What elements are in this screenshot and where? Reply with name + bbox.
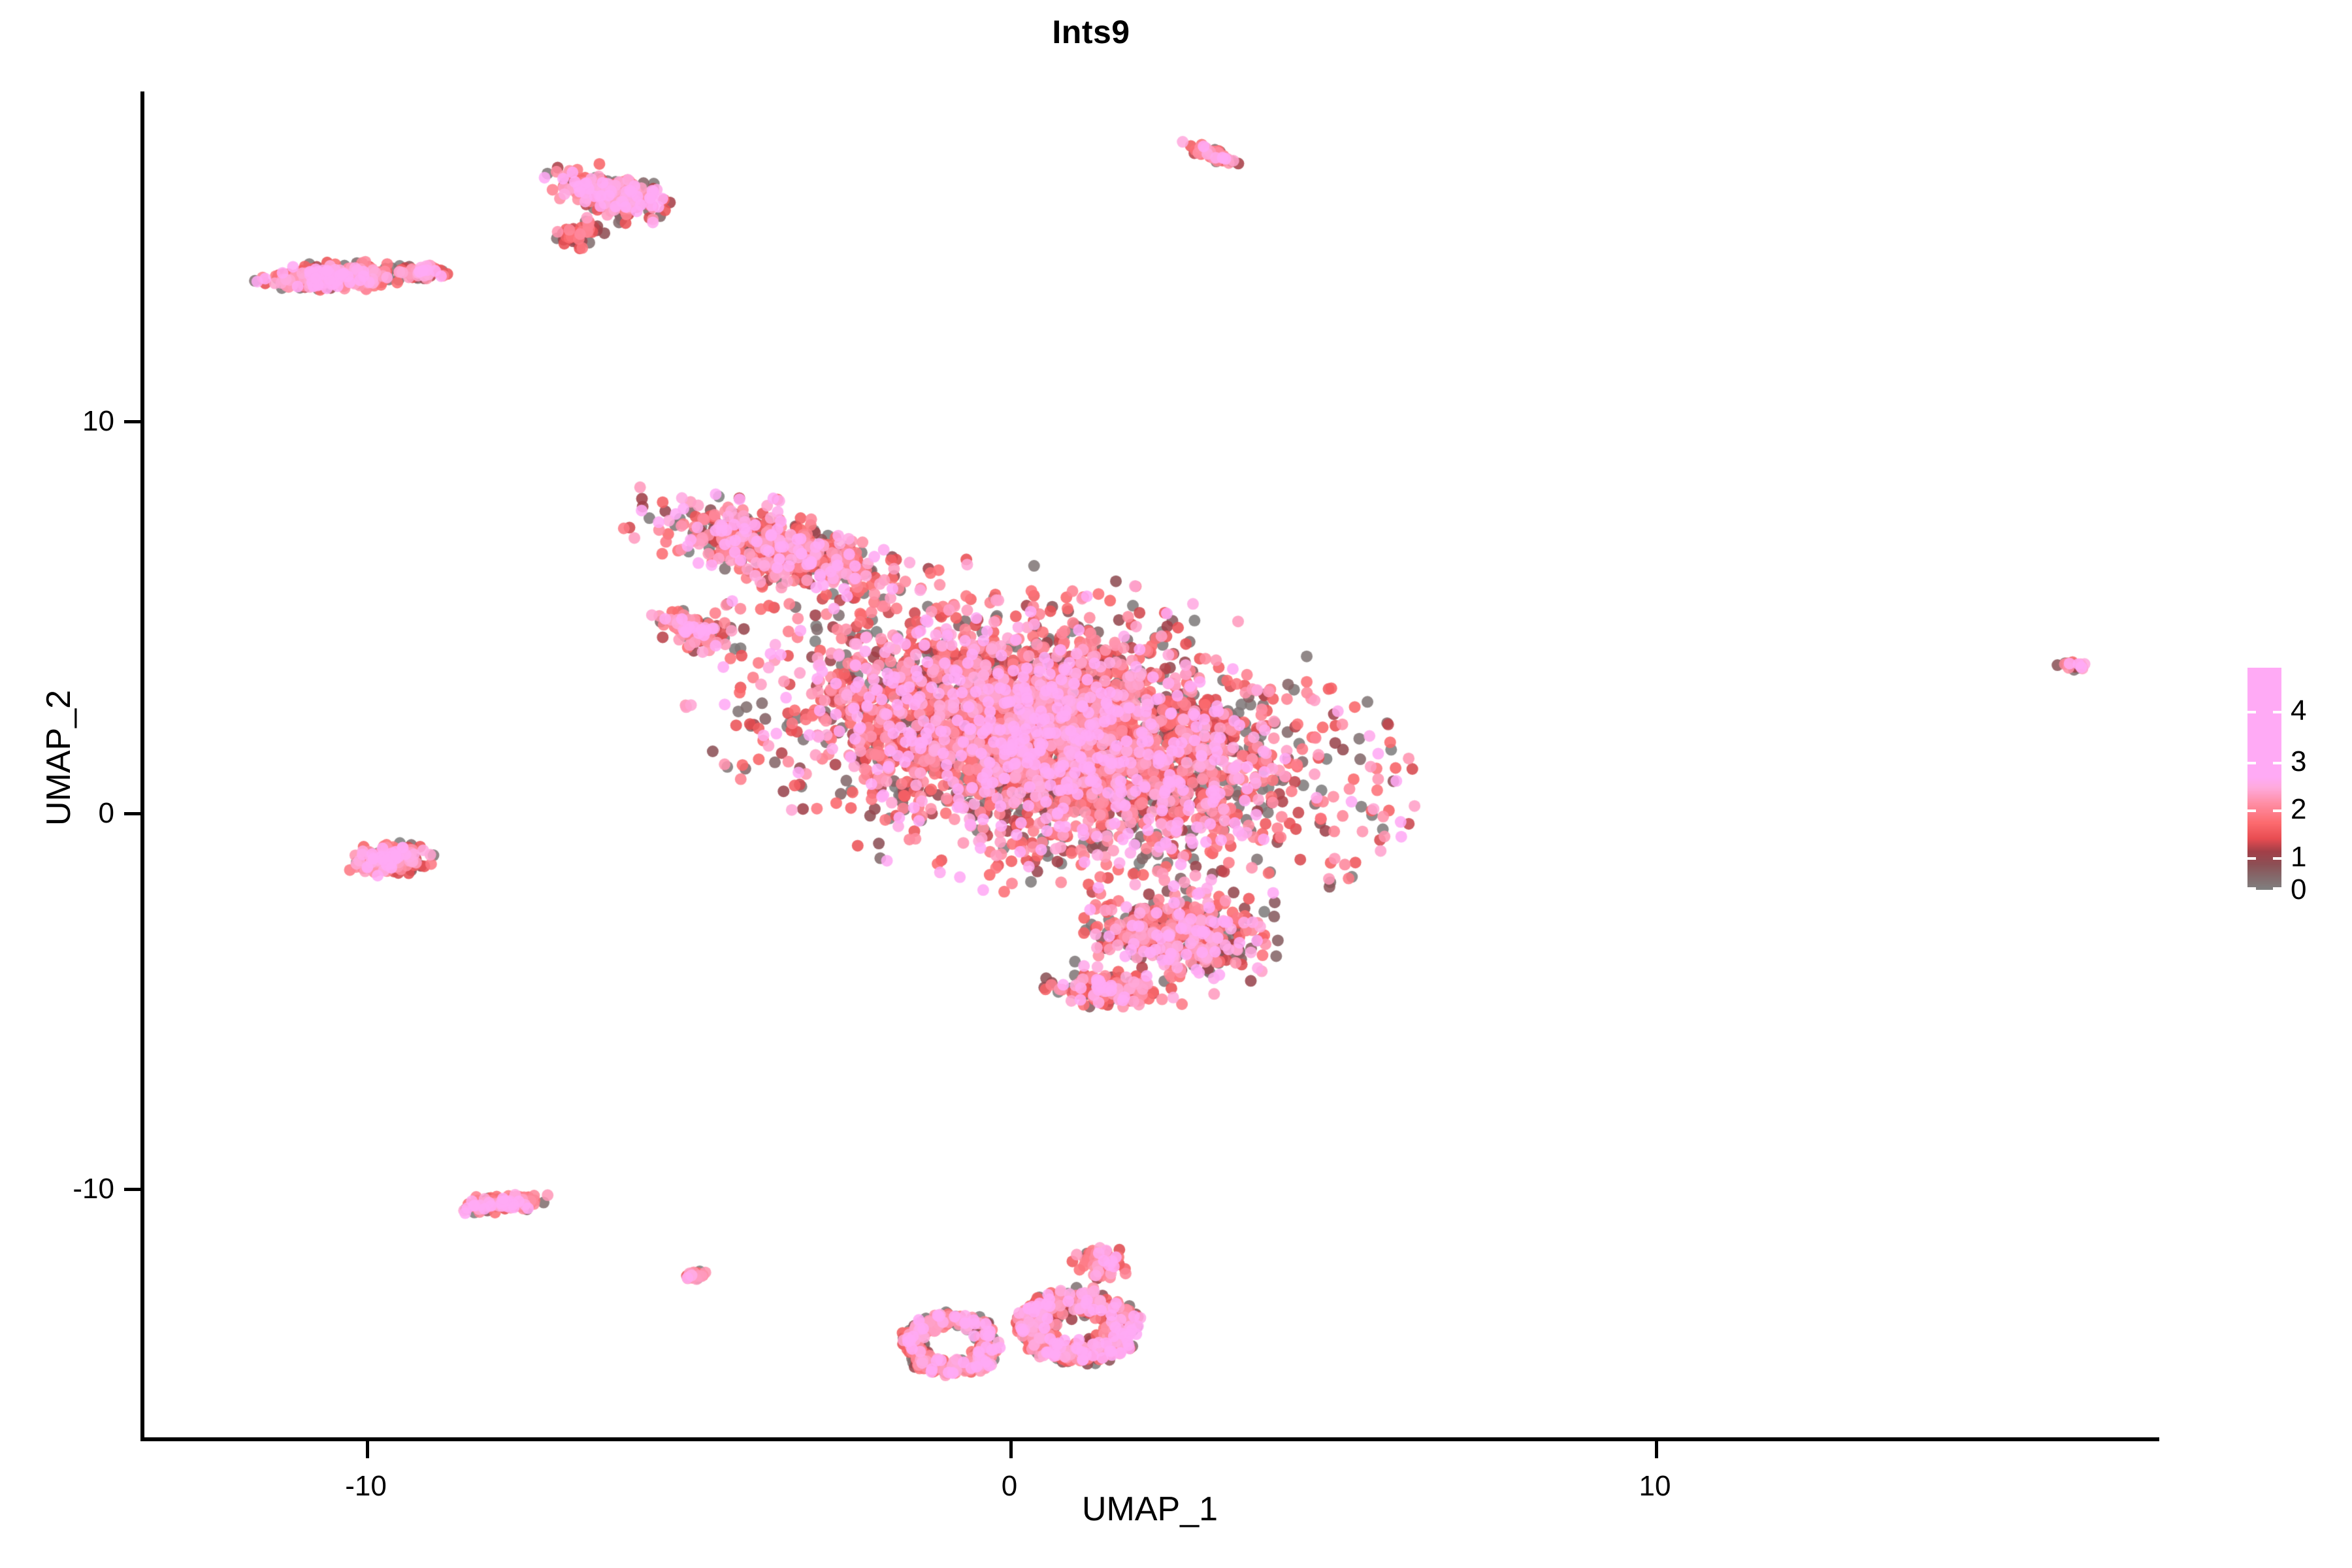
y-tick-label-0: 0 <box>99 797 114 830</box>
colorbar-legend: 4 3 2 1 0 <box>2247 668 2332 890</box>
colorbar-label-0: 0 <box>2291 875 2306 904</box>
page-title: Ints9 <box>0 13 2182 51</box>
y-tick-mark-0 <box>124 812 141 815</box>
colorbar-label-3: 3 <box>2291 747 2306 776</box>
plot-panel <box>144 91 2153 1439</box>
colorbar-gradient <box>2247 668 2281 890</box>
x-tick-mark-10 <box>1655 1441 1658 1458</box>
y-axis-line <box>140 91 144 1441</box>
umap-feature-plot: Ints9 10 0 -10 -10 0 10 UMAP_2 UMAP_1 4 … <box>0 0 2352 1568</box>
colorbar-label-4: 4 <box>2291 696 2306 725</box>
scatter-plot-canvas <box>144 91 2153 1439</box>
colorbar-label-1: 1 <box>2291 843 2306 872</box>
x-axis-line <box>140 1437 2159 1441</box>
x-axis-title: UMAP_1 <box>144 1490 2156 1529</box>
y-axis-title: UMAP_2 <box>39 627 78 889</box>
x-tick-mark-neg10 <box>366 1441 369 1458</box>
x-tick-mark-0 <box>1009 1441 1013 1458</box>
colorbar-label-2: 2 <box>2291 795 2306 824</box>
y-tick-label-neg10: -10 <box>73 1173 114 1205</box>
y-tick-mark-neg10 <box>124 1188 141 1191</box>
y-tick-label-10: 10 <box>82 405 114 438</box>
y-tick-mark-10 <box>124 420 141 423</box>
